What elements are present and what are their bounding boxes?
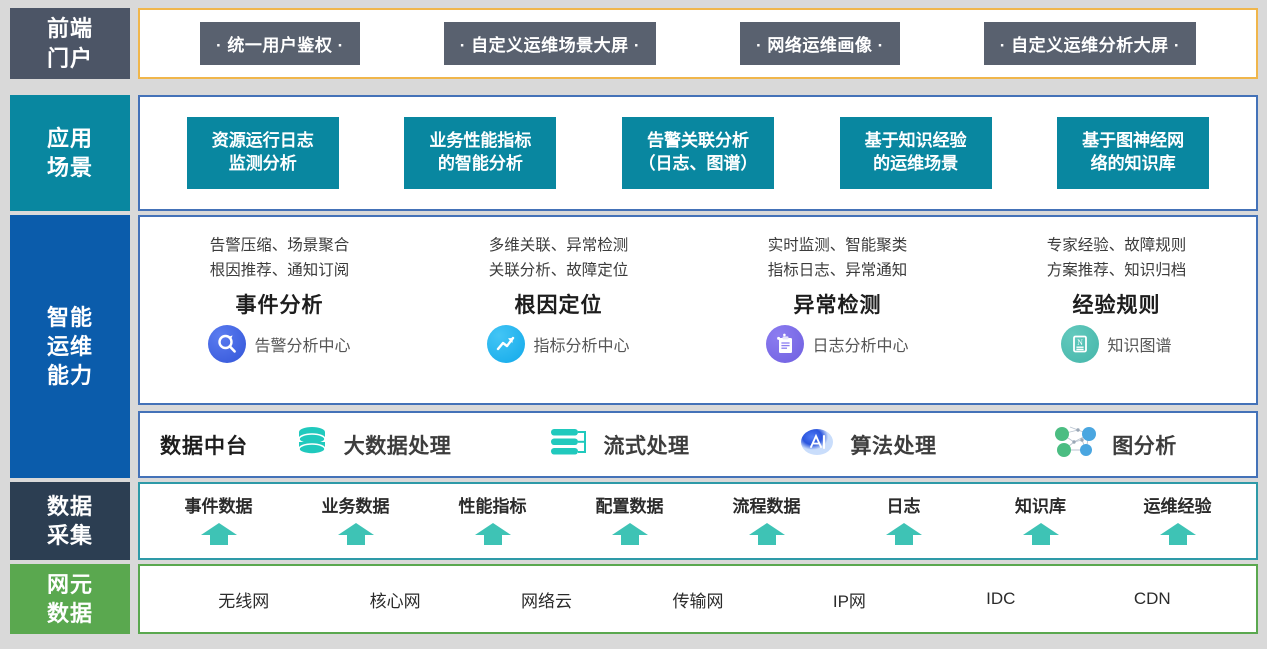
svg-text:N: N xyxy=(1078,338,1084,347)
arrow-up-icon xyxy=(197,522,241,551)
capability-product-label: 日志分析中心 xyxy=(812,332,908,356)
network-element-panel: 无线网 核心网 网络云 传输网 IP网 IDC CDN xyxy=(138,564,1258,634)
collection-item[interactable]: 知识库 xyxy=(972,492,1109,551)
data-collection-panel: 事件数据 业务数据 性能指标 配置数据 流程数据 xyxy=(138,482,1258,560)
metric-analysis-icon xyxy=(487,325,525,363)
row-label-network-element-data: 网元 数据 xyxy=(10,564,130,634)
scenario-chip[interactable]: 告警关联分析 （日志、图谱） xyxy=(622,117,774,189)
data-platform-panel: 数据中台 大数据处理 xyxy=(138,411,1258,478)
portal-chip[interactable]: · 统一用户鉴权 · xyxy=(200,22,360,65)
row-label-line: 场景 xyxy=(47,153,93,182)
data-platform-item-label: 算法处理 xyxy=(851,430,937,460)
row-label-line: 数据 xyxy=(47,492,93,521)
scenario-line: 监测分析 xyxy=(229,153,297,176)
arrow-up-icon xyxy=(882,522,926,551)
arrow-up-icon xyxy=(334,522,378,551)
capability-title: 异常检测 xyxy=(794,289,882,319)
capability-bullet: 根因推荐、通知订阅 xyxy=(210,258,350,283)
data-platform-item-label: 流式处理 xyxy=(604,430,690,460)
data-platform-item-label: 图分析 xyxy=(1112,430,1177,460)
capability-column: 告警压缩、场景聚合 根因推荐、通知订阅 事件分析 xyxy=(140,217,419,403)
capability-bullet: 方案推荐、知识归档 xyxy=(1047,258,1187,283)
capability-bullet: 关联分析、故障定位 xyxy=(489,258,629,283)
arrow-up-icon xyxy=(1156,522,1200,551)
row-label-frontend-portal: 前端 门户 xyxy=(10,8,130,79)
collection-item[interactable]: 性能指标 xyxy=(424,492,561,551)
scenarios-panel: 资源运行日志 监测分析 业务性能指标 的智能分析 告警关联分析 （日志、图谱） … xyxy=(138,95,1258,211)
scenario-chip[interactable]: 基于图神经网 络的知识库 xyxy=(1057,117,1209,189)
capability-title: 事件分析 xyxy=(236,289,324,319)
scenario-line: （日志、图谱） xyxy=(638,153,757,176)
architecture-diagram: 前端 门户 · 统一用户鉴权 · · 自定义运维场景大屏 · · 网络运维画像 … xyxy=(0,0,1267,649)
network-element-item[interactable]: CDN xyxy=(1077,589,1228,609)
capability-title: 根因定位 xyxy=(515,289,603,319)
collection-item[interactable]: 运维经验 xyxy=(1109,492,1246,551)
collection-item[interactable]: 配置数据 xyxy=(561,492,698,551)
portal-chip[interactable]: · 自定义运维场景大屏 · xyxy=(444,22,656,65)
row-label-line: 门户 xyxy=(47,44,93,73)
row-label-aiops-capability: 智能 运维 能力 xyxy=(10,215,130,478)
network-element-item[interactable]: 传输网 xyxy=(622,587,773,612)
row-label-line: 前端 xyxy=(47,14,93,43)
collection-item[interactable]: 事件数据 xyxy=(150,492,287,551)
scenario-line: 资源运行日志 xyxy=(212,130,314,153)
row-label-data-collection: 数据 采集 xyxy=(10,482,130,560)
scenario-line: 的智能分析 xyxy=(438,153,523,176)
scenario-chip[interactable]: 业务性能指标 的智能分析 xyxy=(404,117,556,189)
network-element-item[interactable]: 网络云 xyxy=(471,587,622,612)
scenario-chip[interactable]: 基于知识经验 的运维场景 xyxy=(840,117,992,189)
network-element-item[interactable]: 无线网 xyxy=(168,587,319,612)
scenario-line: 基于图神经网 xyxy=(1082,130,1184,153)
row-label-application-scenarios: 应用 场景 xyxy=(10,95,130,211)
collection-item[interactable]: 日志 xyxy=(835,492,972,551)
capability-product-label: 知识图谱 xyxy=(1107,332,1171,356)
capability-bullet: 告警压缩、场景聚合 xyxy=(210,233,350,258)
arrow-up-icon xyxy=(608,522,652,551)
data-platform-item[interactable]: 流式处理 xyxy=(495,425,742,464)
row-label-line: 采集 xyxy=(47,521,93,550)
collection-item-label: 事件数据 xyxy=(185,492,253,517)
row-label-line: 能力 xyxy=(47,361,93,390)
ai-icon xyxy=(795,425,839,464)
portal-chip[interactable]: · 网络运维画像 · xyxy=(740,22,900,65)
collection-item-label: 运维经验 xyxy=(1144,492,1212,517)
capability-product-label: 指标分析中心 xyxy=(533,332,629,356)
portal-chip[interactable]: · 自定义运维分析大屏 · xyxy=(984,22,1196,65)
row-label-line: 运维 xyxy=(47,332,93,361)
scenario-line: 告警关联分析 xyxy=(647,130,749,153)
arrow-up-icon xyxy=(471,522,515,551)
scenario-chip[interactable]: 资源运行日志 监测分析 xyxy=(187,117,339,189)
collection-item[interactable]: 业务数据 xyxy=(287,492,424,551)
network-element-item[interactable]: IDC xyxy=(925,589,1076,609)
capability-bullet: 实时监测、智能聚类 xyxy=(768,233,908,258)
scenario-line: 基于知识经验 xyxy=(865,130,967,153)
capability-bullet: 专家经验、故障规则 xyxy=(1047,233,1187,258)
capability-product-label: 告警分析中心 xyxy=(254,332,350,356)
row-aiops-capability: 智能 运维 能力 告警压缩、场景聚合 根因推荐、通知订阅 事件分析 xyxy=(0,215,1258,478)
collection-item-label: 流程数据 xyxy=(733,492,801,517)
data-platform-item[interactable]: 算法处理 xyxy=(742,425,989,464)
arrow-up-icon xyxy=(1019,522,1063,551)
row-frontend-portal: 前端 门户 · 统一用户鉴权 · · 自定义运维场景大屏 · · 网络运维画像 … xyxy=(0,8,1258,79)
database-icon xyxy=(292,425,332,464)
collection-item-label: 知识库 xyxy=(1015,492,1066,517)
arrow-up-icon xyxy=(745,522,789,551)
collection-item-label: 日志 xyxy=(887,492,921,517)
alarm-analysis-icon xyxy=(208,325,246,363)
log-analysis-icon xyxy=(766,325,804,363)
collection-item-label: 性能指标 xyxy=(459,492,527,517)
row-network-element-data: 网元 数据 无线网 核心网 网络云 传输网 IP网 IDC CDN xyxy=(0,564,1258,634)
scenario-line: 的运维场景 xyxy=(873,153,958,176)
capability-column: 专家经验、故障规则 方案推荐、知识归档 经验规则 N xyxy=(977,217,1256,403)
network-element-item[interactable]: IP网 xyxy=(774,587,925,612)
capability-panel: 告警压缩、场景聚合 根因推荐、通知订阅 事件分析 xyxy=(138,215,1258,405)
capability-column: 实时监测、智能聚类 指标日志、异常通知 异常检测 xyxy=(698,217,977,403)
graph-network-icon xyxy=(1048,423,1100,466)
portal-panel: · 统一用户鉴权 · · 自定义运维场景大屏 · · 网络运维画像 · · 自定… xyxy=(138,8,1258,79)
row-data-collection: 数据 采集 事件数据 业务数据 性能指标 配置数据 xyxy=(0,482,1258,560)
capability-column: 多维关联、异常检测 关联分析、故障定位 根因定位 指标分析中心 xyxy=(419,217,698,403)
data-platform-item[interactable]: 大数据处理 xyxy=(248,425,495,464)
capability-title: 经验规则 xyxy=(1073,289,1161,319)
collection-item[interactable]: 流程数据 xyxy=(698,492,835,551)
data-platform-item[interactable]: 图分析 xyxy=(989,423,1236,466)
scenario-line: 络的知识库 xyxy=(1091,153,1176,176)
collection-item-label: 业务数据 xyxy=(322,492,390,517)
knowledge-graph-icon: N xyxy=(1061,325,1099,363)
data-platform-item-label: 大数据处理 xyxy=(344,430,452,460)
network-element-item[interactable]: 核心网 xyxy=(319,587,470,612)
collection-item-label: 配置数据 xyxy=(596,492,664,517)
row-label-line: 应用 xyxy=(47,124,93,153)
row-application-scenarios: 应用 场景 资源运行日志 监测分析 业务性能指标 的智能分析 告警关联分析 （日… xyxy=(0,95,1258,211)
row-label-line: 数据 xyxy=(47,599,93,628)
scenario-line: 业务性能指标 xyxy=(429,130,531,153)
row-label-line: 智能 xyxy=(47,303,93,332)
row-label-line: 网元 xyxy=(47,570,93,599)
capability-bullet: 指标日志、异常通知 xyxy=(768,258,908,283)
capability-bullet: 多维关联、异常检测 xyxy=(489,233,629,258)
data-platform-title: 数据中台 xyxy=(160,430,248,460)
stream-icon xyxy=(548,425,592,464)
